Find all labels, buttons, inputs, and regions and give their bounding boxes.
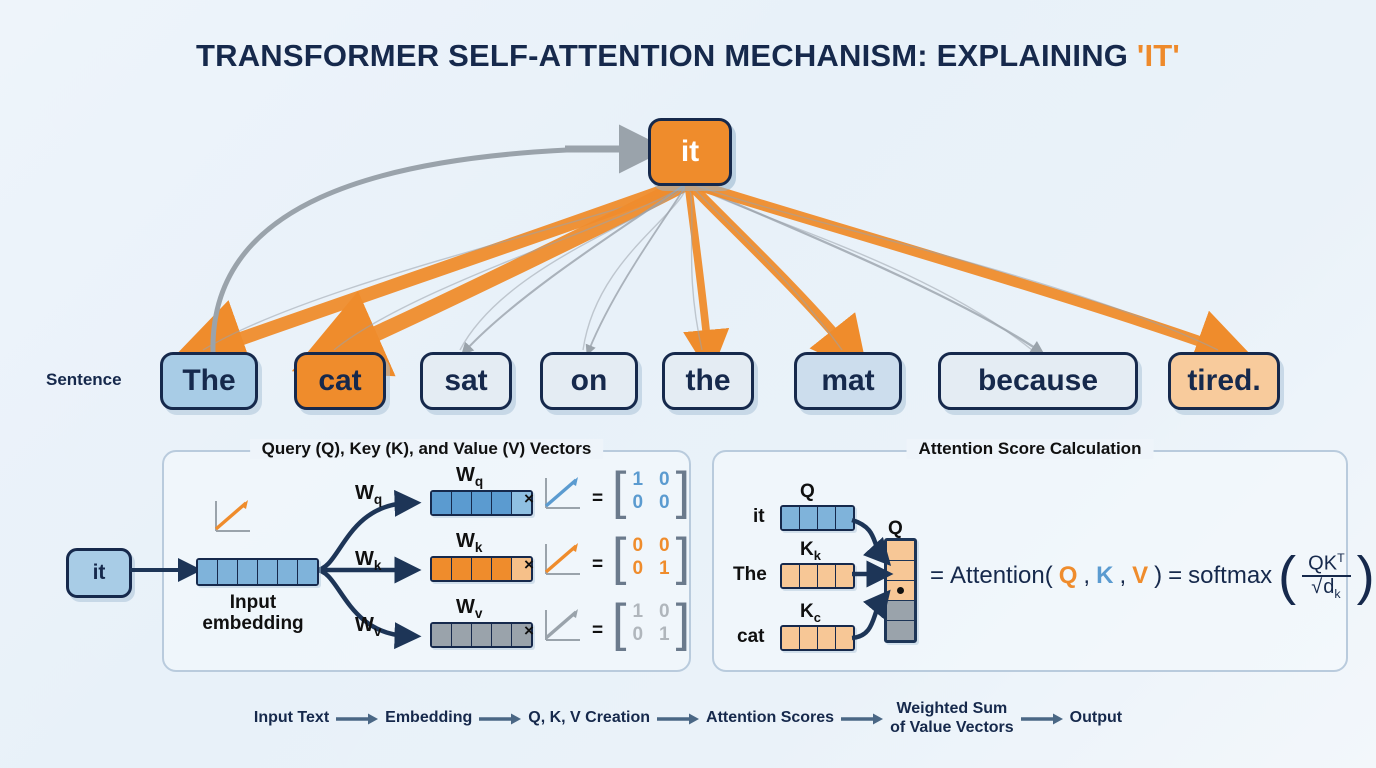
attention-arc-because	[688, 182, 1038, 350]
matrix-cell: 0	[632, 492, 643, 514]
formula-numerator: QKT	[1302, 552, 1350, 575]
attention-row-token-it: it	[753, 506, 765, 528]
pipeline-step-3[interactable]: Q, K, V Creation	[528, 709, 650, 728]
attention-arc-strand	[688, 182, 1218, 350]
score-column	[884, 538, 917, 643]
times-sign-v: ×	[524, 621, 534, 641]
page-title: TRANSFORMER SELF-ATTENTION MECHANISM: EX…	[0, 38, 1376, 74]
pipeline-step-6[interactable]: Output	[1070, 709, 1122, 728]
matrix-cell: 0	[632, 558, 643, 580]
axis-icon-q	[540, 472, 586, 512]
attention-arc-the	[688, 182, 708, 350]
sentence-row-label: Sentence	[46, 370, 122, 390]
matrix-k: [0001]	[612, 534, 690, 581]
attention-arc-tired	[688, 182, 1224, 350]
matrix-cell: 0	[659, 601, 670, 623]
vector-q	[430, 490, 533, 516]
vector-label-q: Wq	[456, 464, 483, 489]
attention-arc-strand	[583, 182, 688, 350]
word-label: on	[571, 364, 608, 398]
attention-arc-mat	[688, 182, 848, 350]
attention-arcs	[203, 182, 1224, 350]
matrix-v: [1001]	[612, 600, 690, 647]
title-highlight: 'IT'	[1137, 38, 1180, 73]
caption-line-1: Input	[188, 592, 318, 613]
weight-label-q: Wq	[355, 482, 382, 507]
word-label: because	[978, 364, 1098, 398]
matrix-cell: 0	[632, 624, 643, 646]
vector-axis-icon	[210, 495, 256, 535]
sentence-word-on[interactable]: on	[540, 352, 638, 410]
weight-label-k: Wk	[355, 548, 381, 573]
pipeline-step-1[interactable]: Input Text	[254, 709, 329, 728]
formula-k: K	[1096, 562, 1113, 590]
score-column-label: Q	[888, 518, 903, 540]
attention-arc-the	[209, 182, 688, 350]
vector-label-k: Wk	[456, 530, 482, 555]
vector-k	[430, 556, 533, 582]
attention-arc-strand	[688, 182, 702, 350]
matrix-cell: 1	[632, 469, 643, 491]
input-token-it[interactable]: it	[66, 548, 132, 598]
word-label: The	[182, 364, 235, 398]
attention-arc-strand	[203, 182, 688, 350]
pipeline-arrow-icon	[834, 712, 890, 726]
vector-label-v: Wv	[456, 596, 482, 621]
matrix-cell: 1	[659, 558, 670, 580]
title-main: TRANSFORMER SELF-ATTENTION MECHANISM: EX…	[196, 38, 1137, 73]
matrix-cell: 0	[659, 535, 670, 557]
input-embedding-caption: Input embedding	[188, 592, 318, 635]
sentence-word-mat[interactable]: mat	[794, 352, 902, 410]
weight-label-v: Wv	[355, 614, 381, 639]
word-label: mat	[821, 364, 874, 398]
matrix-cell: 1	[659, 624, 670, 646]
attention-row-label-0: Q	[800, 481, 815, 503]
pipeline-arrow-icon	[472, 712, 528, 726]
times-sign-q: ×	[524, 489, 534, 509]
times-sign-k: ×	[524, 555, 534, 575]
formula-softmax: softmax	[1188, 562, 1272, 590]
word-label: the	[686, 364, 731, 398]
formula-close: )	[1154, 562, 1162, 590]
formula-v: V	[1132, 562, 1148, 590]
matrix-cell: 1	[632, 601, 643, 623]
input-embedding-vector	[196, 558, 319, 586]
attention-arc-cat	[340, 182, 688, 350]
vector-v	[430, 622, 533, 648]
equals-sign-k: =	[592, 554, 603, 576]
attention-row-label-2: Kc	[800, 601, 821, 625]
score-cell	[887, 601, 914, 621]
sentence-word-tired[interactable]: tired.	[1168, 352, 1280, 410]
score-cell	[887, 561, 914, 581]
attention-arc-strand	[688, 182, 1032, 350]
word-label: cat	[318, 364, 361, 398]
axis-icon-v	[540, 604, 586, 644]
focus-node-it[interactable]: it	[648, 118, 732, 186]
sentence-word-because[interactable]: because	[938, 352, 1138, 410]
dot-product-icon	[897, 587, 904, 594]
attention-vector-0	[780, 505, 855, 531]
attention-row-token-the: The	[733, 564, 767, 586]
formula-sep-2: ,	[1119, 562, 1126, 590]
matrix-cell: 0	[659, 469, 670, 491]
matrix-cell: 0	[659, 492, 670, 514]
attention-arc-sat	[466, 182, 688, 350]
pipeline: Input TextEmbeddingQ, K, V CreationAtten…	[0, 700, 1376, 738]
pipeline-step-4[interactable]: Attention Scores	[706, 709, 834, 728]
pipeline-arrow-icon	[329, 712, 385, 726]
input-token-label: it	[93, 561, 106, 585]
pipeline-arrow-icon	[650, 712, 706, 726]
pipeline-arrow-icon	[1014, 712, 1070, 726]
formula-equals: =	[930, 562, 944, 590]
panel-qkv-title: Query (Q), Key (K), and Value (V) Vector…	[250, 439, 604, 459]
panel-attention-title: Attention Score Calculation	[907, 439, 1154, 459]
equals-sign-q: =	[592, 488, 603, 510]
score-cell	[887, 581, 914, 601]
formula-equals-2: =	[1168, 562, 1182, 590]
attention-arc-strand	[688, 182, 842, 350]
sentence-word-the[interactable]: the	[662, 352, 754, 410]
pipeline-step-5[interactable]: Weighted Sum of Value Vectors	[890, 700, 1014, 738]
attention-row-label-1: Kk	[800, 539, 821, 563]
sentence-word-cat[interactable]: cat	[294, 352, 386, 410]
attention-formula: = Attention(Q, K, V) = softmax ( QKT √dk…	[930, 552, 1376, 601]
attention-arc-strand	[334, 182, 688, 350]
pipeline-step-2[interactable]: Embedding	[385, 709, 472, 728]
attention-row-token-cat: cat	[737, 626, 764, 648]
formula-sep-1: ,	[1083, 562, 1090, 590]
formula-q: Q	[1059, 562, 1078, 590]
matrix-cell: 0	[632, 535, 643, 557]
word-label: tired.	[1187, 364, 1260, 398]
caption-line-2: embedding	[188, 613, 318, 634]
attention-arc-strand	[460, 182, 688, 350]
attention-vector-2	[780, 625, 855, 651]
formula-fn: Attention(	[950, 562, 1053, 590]
formula-denominator: √dk	[1305, 577, 1347, 601]
attention-vector-1	[780, 563, 855, 589]
arc-incoming-the	[213, 148, 640, 352]
axis-icon-k	[540, 538, 586, 578]
equals-sign-v: =	[592, 620, 603, 642]
score-cell	[887, 621, 914, 640]
score-cell	[887, 541, 914, 561]
word-label: sat	[444, 364, 487, 398]
attention-arc-on	[589, 182, 688, 350]
sentence-word-sat[interactable]: sat	[420, 352, 512, 410]
matrix-q: [1000]	[612, 468, 690, 515]
sentence-word-the[interactable]: The	[160, 352, 258, 410]
